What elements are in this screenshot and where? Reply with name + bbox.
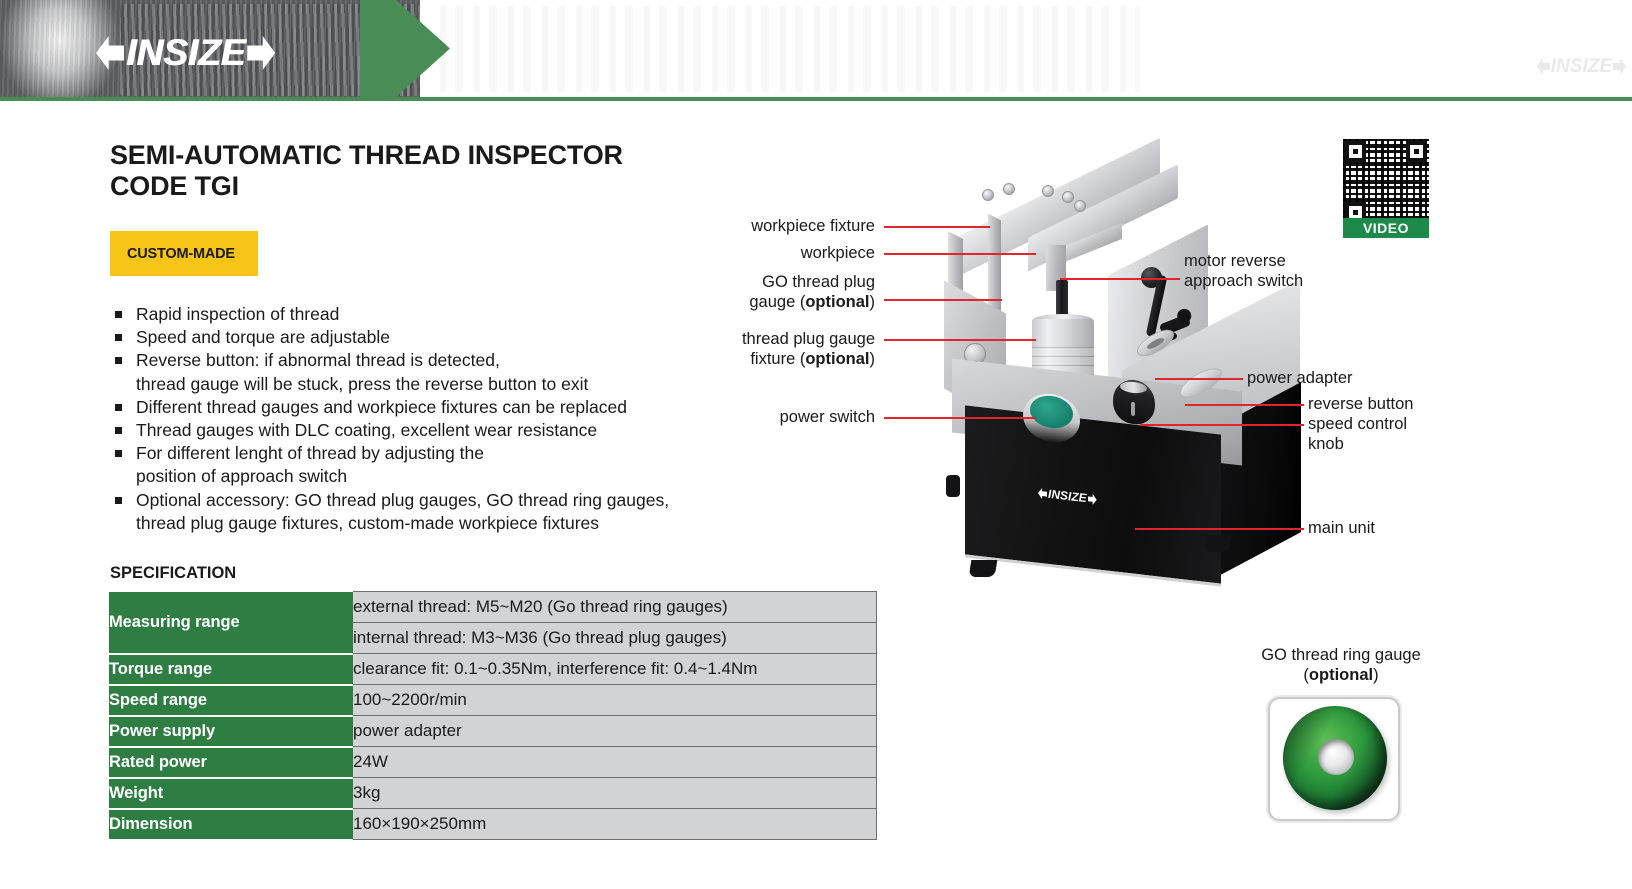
feature-text: Thread gauges with DLC coating, excellen…: [136, 420, 597, 440]
machine-foot-icon: [946, 475, 960, 497]
spec-value: 24W: [353, 747, 877, 778]
spec-key-weight: Weight: [109, 778, 353, 809]
leader-line-workpiece: [884, 253, 1036, 255]
logo-watermark-right-arrow-icon: [1613, 58, 1626, 75]
feature-text: For different lenght of thread by adjust…: [136, 443, 484, 463]
feature-text: position of approach switch: [136, 466, 347, 486]
callout-optional-emphasis: optional: [805, 293, 869, 311]
qr-finder-pattern-icon: [1406, 141, 1427, 162]
ring-gauge-caption-line1: GO thread ring gauge: [1196, 645, 1486, 665]
feature-text: Reverse button: if abnormal thread is de…: [136, 350, 500, 370]
spec-value: external thread: M5~M20 (Go thread ring …: [353, 592, 877, 623]
bullet-square-icon: [115, 427, 122, 434]
callout-workpiece: workpiece: [640, 243, 875, 263]
feature-text: thread gauge will be stuck, press the re…: [136, 374, 588, 394]
product-datasheet-page: INSIZE INSIZE SEMI-AUTOMATIC THREAD INSP…: [0, 0, 1632, 889]
callout-label-line1: motor reverse: [1184, 251, 1404, 271]
callout-power-adapter: power adapter: [1247, 368, 1447, 388]
insize-logo-watermark: INSIZE: [1537, 58, 1626, 75]
callout-label: reverse button: [1308, 395, 1413, 413]
spec-value: 3kg: [353, 778, 877, 809]
bullet-square-icon: [115, 450, 122, 457]
spec-key-measuring-range: Measuring range: [109, 592, 353, 654]
header-green-chevron: [360, 0, 450, 97]
callout-label-line2: gauge (optional): [610, 292, 875, 312]
logo-watermark-wordmark: INSIZE: [1551, 58, 1612, 75]
callout-label-line2-suffix: ): [870, 350, 876, 368]
callout-reverse-button: reverse button: [1308, 394, 1508, 414]
page-header: INSIZE INSIZE: [0, 0, 1632, 101]
leader-line-power-switch: [884, 417, 1036, 419]
callout-label: main unit: [1308, 519, 1375, 537]
header-bottom-rule: [0, 97, 1632, 101]
table-row: Weight 3kg: [109, 778, 877, 809]
leader-line-speed-control-knob: [1140, 424, 1304, 426]
logo-right-arrow-icon: [247, 36, 275, 70]
ring-gauge-bore: [1318, 739, 1354, 775]
callout-label: workpiece: [801, 244, 875, 262]
bullet-square-icon: [115, 404, 122, 411]
table-row: Power supply power adapter: [109, 716, 877, 747]
leader-line-go-thread-plug-gauge: [884, 299, 1002, 301]
video-badge[interactable]: VIDEO: [1343, 218, 1429, 238]
ring-gauge-caption-suffix: ): [1373, 666, 1379, 684]
product-title-line2: CODE TGI: [110, 171, 830, 202]
logo-watermark-left-arrow-icon: [1537, 58, 1550, 75]
callout-label-line1: speed control: [1308, 414, 1508, 434]
callout-go-thread-plug-gauge: GO thread plug gauge (optional): [610, 272, 875, 312]
callout-speed-control-knob: speed control knob: [1308, 414, 1508, 454]
spec-value: 100~2200r/min: [353, 685, 877, 716]
callout-label-line2-prefix: gauge (: [749, 293, 805, 311]
callout-main-unit: main unit: [1308, 518, 1508, 538]
spec-key-dimension: Dimension: [109, 809, 353, 840]
bullet-square-icon: [115, 357, 122, 364]
custom-made-badge: CUSTOM-MADE: [110, 231, 258, 276]
feature-text: thread plug gauge fixtures, custom-made …: [136, 513, 599, 533]
list-item: Optional accessory: GO thread plug gauge…: [112, 489, 852, 512]
list-item: For different lenght of thread by adjust…: [112, 442, 852, 465]
qr-finder-pattern-icon: [1345, 141, 1366, 162]
video-qr-code[interactable]: [1343, 139, 1429, 225]
table-row: Speed range 100~2200r/min: [109, 685, 877, 716]
feature-text: Rapid inspection of thread: [136, 304, 339, 324]
callout-label: workpiece fixture: [751, 217, 875, 235]
table-row: Dimension 160×190×250mm: [109, 809, 877, 840]
bullet-square-icon: [115, 311, 122, 318]
machine-foot-icon: [1204, 535, 1233, 552]
leader-line-thread-plug-gauge-fixture: [884, 339, 1036, 341]
leader-line-motor-reverse-approach-switch: [1060, 278, 1180, 280]
list-item-continuation: position of approach switch: [112, 465, 852, 488]
callout-label-line2-prefix: fixture (: [750, 350, 805, 368]
table-row: Torque range clearance fit: 0.1~0.35Nm, …: [109, 654, 877, 685]
feature-text: Speed and torque are adjustable: [136, 327, 390, 347]
specification-table: Measuring range external thread: M5~M20 …: [109, 591, 877, 841]
list-item-continuation: thread gauge will be stuck, press the re…: [112, 373, 852, 396]
spec-key-speed-range: Speed range: [109, 685, 353, 716]
spec-key-power-supply: Power supply: [109, 716, 353, 747]
callout-label-line2: knob: [1308, 434, 1508, 454]
logo-left-arrow-icon: [96, 36, 124, 70]
feature-text: Optional accessory: GO thread plug gauge…: [136, 490, 669, 510]
callout-label-line2: approach switch: [1184, 271, 1404, 291]
product-title-line1: SEMI-AUTOMATIC THREAD INSPECTOR: [110, 140, 830, 171]
callout-thread-plug-gauge-fixture: thread plug gauge fixture (optional): [600, 329, 875, 369]
leader-line-main-unit: [1135, 528, 1304, 530]
bracket-bolt-icon: [1062, 191, 1074, 203]
machine-logo-left-arrow-icon: [1038, 488, 1047, 500]
leader-line-power-adapter: [1155, 378, 1243, 380]
machine-foot-icon: [969, 560, 998, 577]
header-watermark-pattern: [440, 6, 1140, 92]
callout-label-line1: GO thread plug: [610, 272, 875, 292]
leader-line-workpiece-fixture: [884, 226, 990, 228]
callout-power-switch: power switch: [680, 407, 875, 427]
spec-value: power adapter: [353, 716, 877, 747]
callout-label-line2-suffix: ): [870, 293, 876, 311]
bullet-square-icon: [115, 334, 122, 341]
ring-gauge-caption: GO thread ring gauge (optional): [1196, 645, 1486, 685]
bracket-bolt-icon: [1003, 183, 1015, 195]
callout-optional-emphasis: optional: [805, 350, 869, 368]
spec-key-torque-range: Torque range: [109, 654, 353, 685]
ring-gauge-caption-line2: (optional): [1196, 665, 1486, 685]
feature-text: Different thread gauges and workpiece fi…: [136, 397, 627, 417]
list-item-continuation: thread plug gauge fixtures, custom-made …: [112, 512, 852, 535]
insize-logo: INSIZE: [96, 36, 275, 70]
callout-label: power switch: [780, 408, 875, 426]
ring-gauge-optional-emphasis: optional: [1309, 666, 1373, 684]
table-row: Rated power 24W: [109, 747, 877, 778]
callout-label-line1: thread plug gauge: [600, 329, 875, 349]
leader-line-reverse-button: [1185, 404, 1304, 406]
callout-motor-reverse-approach-switch: motor reverse approach switch: [1184, 251, 1404, 291]
spec-value: clearance fit: 0.1~0.35Nm, interference …: [353, 654, 877, 685]
spec-key-rated-power: Rated power: [109, 747, 353, 778]
bullet-square-icon: [115, 497, 122, 504]
callout-label: power adapter: [1247, 369, 1353, 387]
specification-heading: SPECIFICATION: [110, 564, 236, 583]
table-row: Measuring range external thread: M5~M20 …: [109, 592, 877, 623]
page-title: SEMI-AUTOMATIC THREAD INSPECTOR CODE TGI: [110, 140, 830, 202]
callout-workpiece-fixture: workpiece fixture: [640, 216, 875, 236]
machine-logo-right-arrow-icon: [1088, 493, 1097, 505]
logo-wordmark: INSIZE: [126, 36, 245, 70]
spec-value: internal thread: M3~M36 (Go thread plug …: [353, 623, 877, 654]
bracket-bolt-icon: [982, 189, 994, 201]
bracket-bolt-icon: [1074, 200, 1086, 212]
callout-label-line2: fixture (optional): [600, 349, 875, 369]
spec-value: 160×190×250mm: [353, 809, 877, 840]
product-photo: INSIZE: [860, 175, 1340, 625]
thread-inspector-machine-illustration: INSIZE: [860, 175, 1340, 625]
bracket-bolt-icon: [1042, 185, 1054, 197]
